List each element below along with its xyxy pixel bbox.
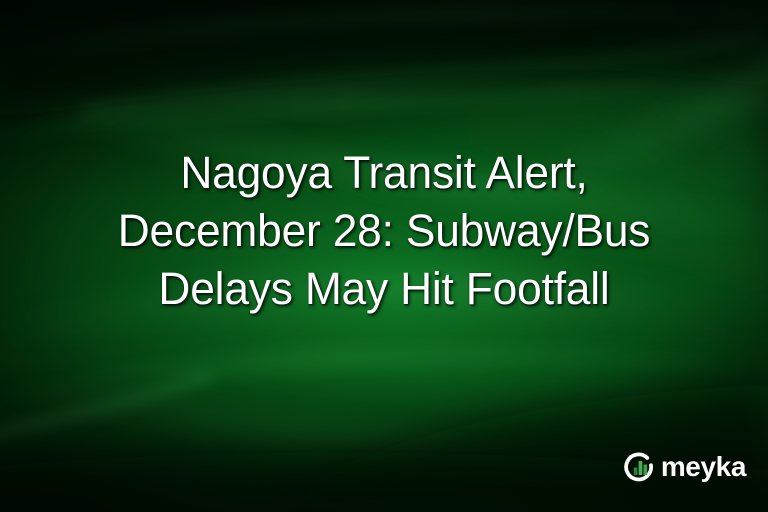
banner-canvas: Nagoya Transit Alert, December 28: Subwa… (0, 0, 768, 512)
banner-headline: Nagoya Transit Alert, December 28: Subwa… (6, 144, 762, 318)
circle-bar-chart-icon (624, 451, 656, 483)
brand-name: meyka (661, 453, 746, 481)
brand-logo: meyka (624, 448, 746, 486)
